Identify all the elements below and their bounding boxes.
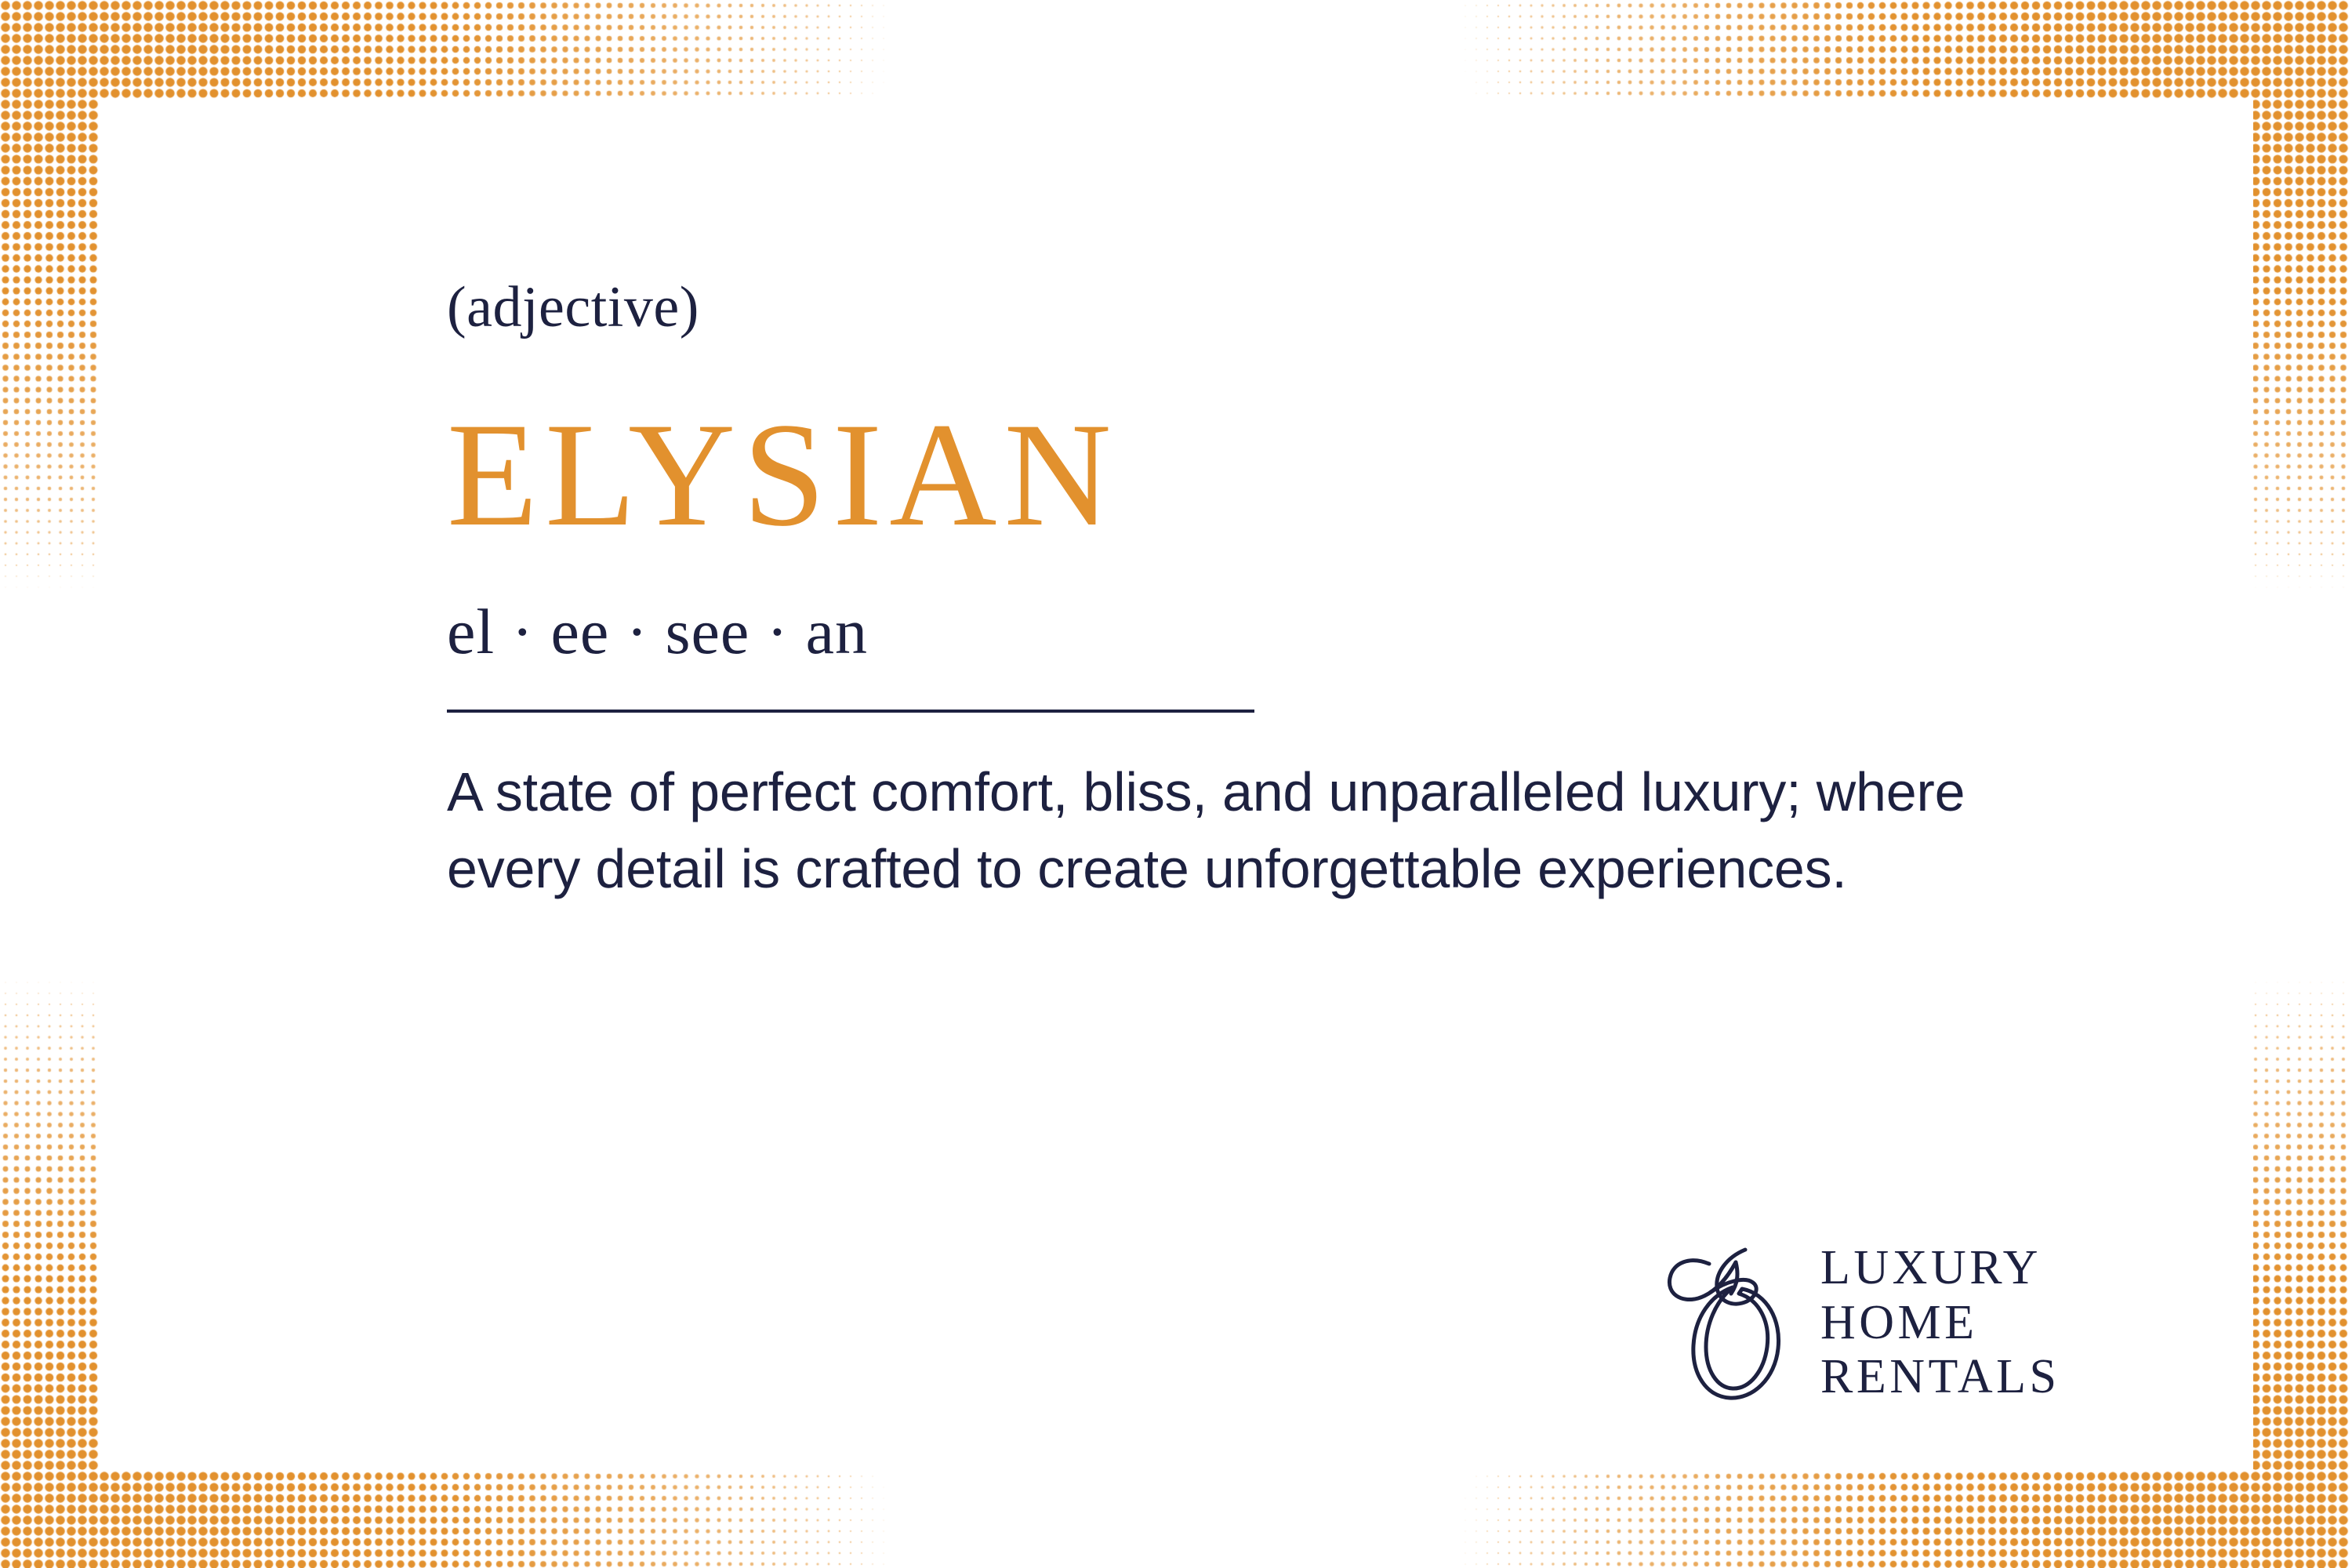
dictionary-definition-poster: (adjective) ELYSIAN el · ee · see · an A…: [0, 0, 2352, 1568]
brand-line-luxury: LUXURY: [1820, 1241, 2060, 1295]
headword-title: ELYSIAN: [447, 336, 2093, 550]
pronunciation-text: el · ee · see · an: [447, 550, 2093, 664]
definition-text: A state of perfect comfort, bliss, and u…: [447, 713, 2078, 907]
brand-line-home: HOME: [1820, 1296, 2060, 1350]
brand-line-rentals: RENTALS: [1820, 1350, 2060, 1404]
brand-logo-lockup: LUXURY HOME RENTALS: [1661, 1239, 2060, 1407]
definition-content-block: (adjective) ELYSIAN el · ee · see · an A…: [447, 278, 2093, 907]
part-of-speech-label: (adjective): [447, 278, 2093, 336]
script-e-monogram-icon: [1661, 1239, 1794, 1407]
brand-wordmark: LUXURY HOME RENTALS: [1820, 1241, 2060, 1404]
